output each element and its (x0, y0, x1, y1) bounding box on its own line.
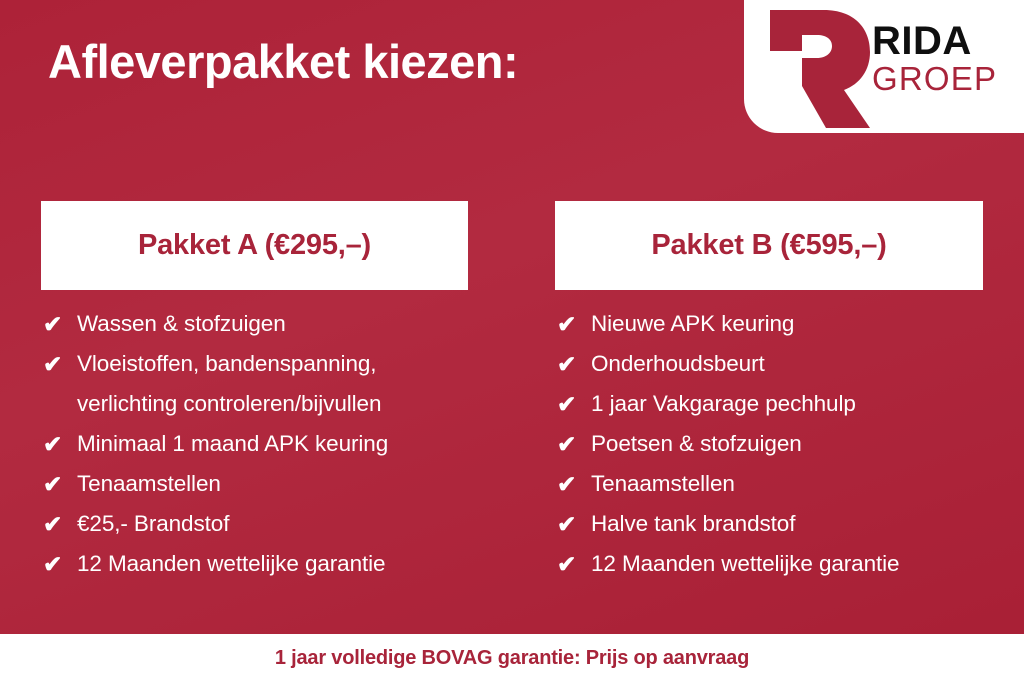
check-icon: ✔ (557, 504, 581, 544)
package-b-title: Pakket B (€595,–) (651, 229, 886, 262)
list-item-label: Nieuwe APK keuring (591, 304, 983, 344)
list-item-label: Minimaal 1 maand APK keuring (77, 424, 468, 464)
footer-text: 1 jaar volledige BOVAG garantie: Prijs o… (275, 647, 749, 670)
logo-panel: RIDA GROEP (744, 0, 1024, 133)
list-item: ✔Poetsen & stofzuigen (555, 424, 983, 464)
list-item: ✔Tenaamstellen (555, 464, 983, 504)
rida-r-mark-icon (762, 6, 872, 128)
check-icon: ✔ (43, 464, 67, 504)
list-item-label: Onderhoudsbeurt (591, 344, 983, 384)
check-icon: ✔ (557, 464, 581, 504)
package-card-a[interactable]: Pakket A (€295,–) ✔Wassen & stofzuigen✔V… (41, 201, 468, 584)
list-item-label: Halve tank brandstof (591, 504, 983, 544)
list-item-label: 12 Maanden wettelijke garantie (77, 544, 468, 584)
list-item-label: Tenaamstellen (591, 464, 983, 504)
check-icon: ✔ (557, 384, 581, 424)
list-item: ✔Tenaamstellen (41, 464, 468, 504)
list-item: ✔12 Maanden wettelijke garantie (555, 544, 983, 584)
list-item-label: 12 Maanden wettelijke garantie (591, 544, 983, 584)
check-icon: ✔ (43, 424, 67, 464)
logo-brand-primary: RIDA (872, 22, 1022, 60)
list-item: ✔€25,- Brandstof (41, 504, 468, 544)
list-item-label: Vloeistoffen, bandenspanning, verlichtin… (77, 344, 468, 424)
logo-brand-secondary: GROEP (872, 62, 1022, 97)
page-title: Afleverpakket kiezen: (48, 34, 518, 89)
list-item: ✔Minimaal 1 maand APK keuring (41, 424, 468, 464)
list-item: ✔Halve tank brandstof (555, 504, 983, 544)
afleverpakket-poster: Afleverpakket kiezen: RIDA GROEP Pakket … (0, 0, 1024, 682)
footer-banner: 1 jaar volledige BOVAG garantie: Prijs o… (0, 634, 1024, 682)
package-a-feature-list: ✔Wassen & stofzuigen✔Vloeistoffen, bande… (41, 304, 468, 584)
list-item-label: Tenaamstellen (77, 464, 468, 504)
list-item-label: €25,- Brandstof (77, 504, 468, 544)
check-icon: ✔ (43, 544, 67, 584)
package-card-b[interactable]: Pakket B (€595,–) ✔Nieuwe APK keuring✔On… (555, 201, 983, 584)
package-a-title-card: Pakket A (€295,–) (41, 201, 468, 290)
list-item: ✔Wassen & stofzuigen (41, 304, 468, 344)
package-b-feature-list: ✔Nieuwe APK keuring✔Onderhoudsbeurt✔1 ja… (555, 304, 983, 584)
logo-wordmark: RIDA GROEP (872, 22, 1022, 97)
list-item-label: 1 jaar Vakgarage pechhulp (591, 384, 983, 424)
check-icon: ✔ (43, 344, 67, 384)
list-item: ✔Vloeistoffen, bandenspanning, verlichti… (41, 344, 468, 424)
check-icon: ✔ (557, 344, 581, 384)
list-item: ✔Onderhoudsbeurt (555, 344, 983, 384)
check-icon: ✔ (43, 304, 67, 344)
check-icon: ✔ (557, 424, 581, 464)
list-item: ✔12 Maanden wettelijke garantie (41, 544, 468, 584)
package-a-title: Pakket A (€295,–) (138, 229, 371, 262)
check-icon: ✔ (557, 544, 581, 584)
check-icon: ✔ (557, 304, 581, 344)
list-item: ✔Nieuwe APK keuring (555, 304, 983, 344)
list-item-label: Poetsen & stofzuigen (591, 424, 983, 464)
package-b-title-card: Pakket B (€595,–) (555, 201, 983, 290)
check-icon: ✔ (43, 504, 67, 544)
list-item: ✔1 jaar Vakgarage pechhulp (555, 384, 983, 424)
list-item-label: Wassen & stofzuigen (77, 304, 468, 344)
